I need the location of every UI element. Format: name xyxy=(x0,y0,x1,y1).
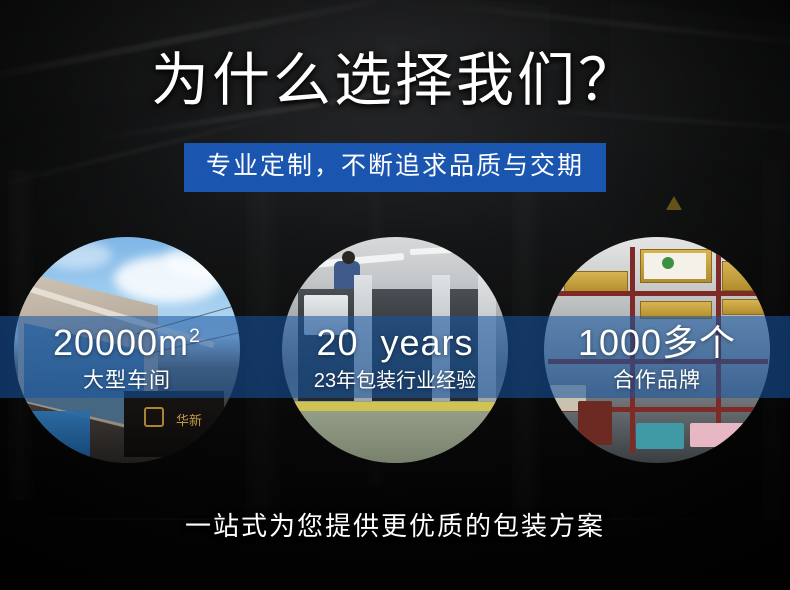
gate-signage: 华新 xyxy=(176,410,202,429)
printing-press-photo xyxy=(282,237,508,463)
cloud-shape xyxy=(42,241,112,269)
blue-signboard xyxy=(32,411,90,457)
award-plaque xyxy=(564,271,628,293)
company-logo-icon xyxy=(144,407,164,427)
sub-banner-text: 专业定制，不断追求品质与交期 xyxy=(184,143,606,192)
feature-circle-experience xyxy=(282,237,508,463)
page-title: 为什么选择我们？ xyxy=(0,52,790,110)
feature-circle-brands xyxy=(544,237,770,463)
award-seal-icon xyxy=(662,257,674,269)
award-plaque xyxy=(722,261,766,291)
sub-banner-container: 专业定制，不断追求品质与交期 xyxy=(0,143,790,192)
display-shelf-rail xyxy=(548,291,768,296)
display-shelf-post xyxy=(630,247,635,453)
machine-column xyxy=(354,275,372,411)
machine-control-panel xyxy=(304,295,348,335)
product-box xyxy=(636,423,684,449)
factory-building-photo: 华新 xyxy=(14,237,240,463)
feature-circle-workshop: 华新 xyxy=(14,237,240,463)
award-plaques-photo xyxy=(544,237,770,463)
promo-banner: 为什么选择我们？ 专业定制，不断追求品质与交期 华新 xyxy=(0,0,790,590)
machine-column xyxy=(432,275,450,411)
factory-gate xyxy=(124,391,224,457)
product-box xyxy=(690,423,754,447)
product-box xyxy=(578,401,612,445)
award-plaque xyxy=(722,299,766,315)
display-shelf-rail xyxy=(548,359,768,364)
award-certificate xyxy=(644,253,706,279)
footer-tagline: 一站式为您提供更优质的包装方案 xyxy=(0,512,790,541)
floor-safety-strip xyxy=(282,402,508,411)
worker-head xyxy=(342,251,355,264)
ceiling-light xyxy=(410,245,490,255)
cloud-shape xyxy=(164,243,240,279)
machine-column xyxy=(478,275,496,411)
feature-circle-row: 华新 xyxy=(0,237,790,463)
award-plaque xyxy=(640,301,712,319)
